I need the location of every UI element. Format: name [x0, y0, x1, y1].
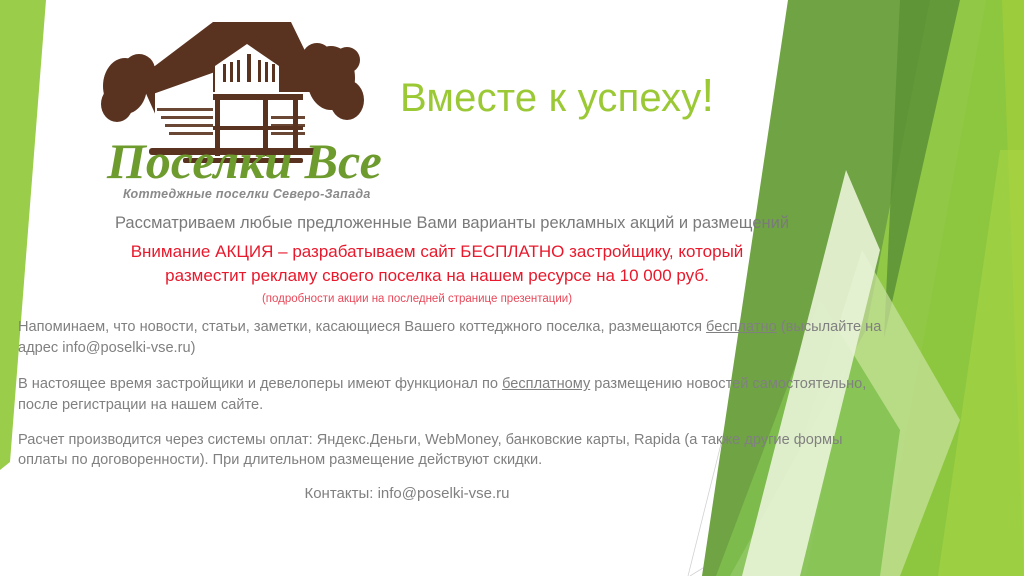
paragraph-2-text-before: В настоящее время застройщики и девелопе… — [18, 376, 502, 392]
company-logo: Поселки Все Коттеджные поселки Северо-За… — [95, 8, 395, 203]
slide-body: Рассматриваем любые предложенные Вами ва… — [18, 212, 886, 502]
promo-line-1: Внимание АКЦИЯ – разрабатываем сайт БЕСП… — [131, 242, 744, 261]
paragraph-free-news: Напоминаем, что новости, статьи, заметки… — [18, 317, 886, 358]
promo-line-2: разместит рекламу своего поселка на наше… — [165, 266, 709, 285]
logo-brand-text: Поселки Все — [106, 133, 382, 189]
paragraph-self-service: В настоящее время застройщики и девелопе… — [18, 374, 886, 415]
promo-note: (подробности акции на последней странице… — [18, 292, 886, 307]
paragraph-1-underlined: бесплатно — [706, 319, 777, 335]
page-title-text: Вместе к успеху — [400, 76, 701, 120]
promo-text: Внимание АКЦИЯ – разрабатываем сайт БЕСП… — [18, 240, 886, 288]
presentation-slide: Поселки Все Коттеджные поселки Северо-За… — [0, 0, 1024, 576]
paragraph-1-text-before: Напоминаем, что новости, статьи, заметки… — [18, 319, 706, 335]
page-title: Вместе к успеху! — [400, 68, 820, 122]
page-title-exclamation: ! — [701, 69, 714, 121]
contacts-line: Контакты: info@poselki-vse.ru — [18, 485, 886, 502]
logo-illustration: Поселки Все Коттеджные поселки Северо-За… — [95, 8, 395, 203]
intro-line: Рассматриваем любые предложенные Вами ва… — [18, 212, 886, 234]
deco-highlight-band — [938, 150, 1024, 576]
deco-deep-green-triangle — [884, 0, 960, 338]
paragraph-payment: Расчет производится через системы оплат:… — [18, 430, 886, 471]
paragraph-2-underlined: бесплатному — [502, 376, 590, 392]
deco-bright-band — [880, 0, 1024, 576]
logo-tagline-text: Коттеджные поселки Северо-Запада — [123, 187, 371, 201]
